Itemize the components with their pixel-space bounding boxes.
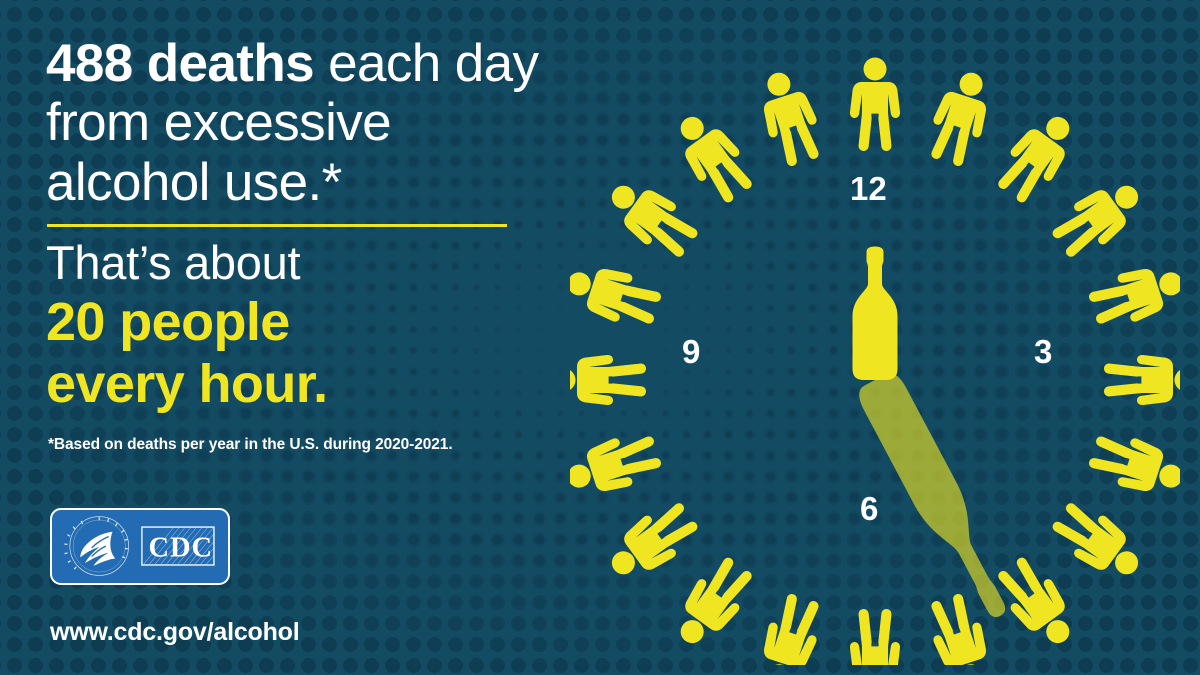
divider: [47, 224, 507, 227]
person-figure: [570, 257, 665, 334]
person-figure: [570, 355, 646, 405]
person-figure: [1085, 427, 1180, 504]
person-figure: [922, 66, 999, 170]
person-figure: [1085, 257, 1180, 334]
person-figure: [1104, 355, 1180, 405]
clock-svg: [570, 10, 1180, 665]
person-figure: [570, 427, 665, 504]
hhs-seal-icon: [64, 517, 128, 576]
clock-numeral-9: 9: [682, 335, 700, 368]
infographic-poster: 488 deaths each day from excessive alcoh…: [0, 0, 1200, 675]
footnote: *Based on deaths per year in the U.S. du…: [48, 436, 566, 454]
cdc-wordmark: CDC: [142, 527, 214, 565]
person-figure: [665, 104, 760, 209]
person-figure: [989, 104, 1084, 209]
person-figure: [850, 609, 900, 665]
page-title: 488 deaths each day from excessive alcoh…: [46, 34, 566, 212]
bottle-shadow: [854, 369, 1021, 627]
person-figure: [665, 551, 760, 656]
clock-numeral-6: 6: [860, 492, 878, 525]
cdc-wordmark-text: CDC: [149, 532, 213, 563]
clock-numeral-12: 12: [850, 172, 887, 205]
headline-line2: from excessive: [46, 93, 391, 152]
clock-graphic: 12 3 6 9: [570, 10, 1180, 665]
person-figure: [599, 170, 704, 265]
person-figure: [752, 66, 829, 170]
person-figure: [1046, 170, 1151, 265]
subhead-line1: That’s about: [46, 236, 566, 290]
person-figure: [850, 58, 900, 152]
person-figure: [1046, 494, 1151, 589]
text-column: 488 deaths each day from excessive alcoh…: [46, 34, 566, 454]
headline-line3: alcohol use.*: [46, 153, 342, 212]
person-figure: [752, 590, 829, 665]
cdc-logo: CDC: [50, 508, 230, 585]
subhead-line2: 20 people: [46, 292, 566, 352]
clock-numeral-3: 3: [1034, 335, 1052, 368]
cdc-logo-mark: CDC: [50, 508, 230, 585]
subhead-line3: every hour.: [46, 354, 566, 414]
website-url[interactable]: www.cdc.gov/alcohol: [50, 618, 299, 647]
headline-line1-rest: each day: [314, 34, 538, 93]
person-figure: [599, 494, 704, 589]
headline-emphasis: 488 deaths: [46, 34, 314, 93]
bottle-icon: [853, 247, 898, 381]
